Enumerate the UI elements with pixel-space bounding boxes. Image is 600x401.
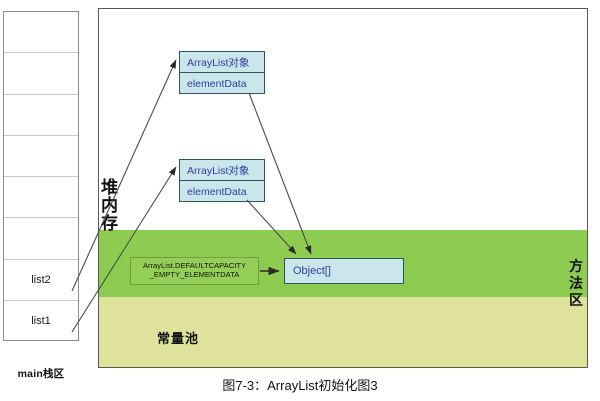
arraylist-object-box-1: ArrayList对象 elementData: [179, 51, 265, 94]
figure-caption: 图7-3：ArrayList初始化图3: [0, 375, 600, 394]
stack-cell-list1: list1: [4, 301, 78, 342]
stack-cell: [4, 177, 78, 218]
heap-label: 堆 内 存: [101, 179, 118, 233]
stack-cell: [4, 12, 78, 53]
stack-cell: [4, 53, 78, 94]
method-area-label: 方 法 区: [569, 259, 583, 310]
constant-pool-label: 常量池: [157, 328, 199, 347]
object-array-box: Object[]: [284, 258, 404, 284]
default-capacity-empty-elementdata-box: ArrayList.DEFAULTCAPACITY _EMPTY_ELEMENT…: [130, 257, 259, 285]
diagram-root: list2 list1 main栈区 常量池 堆 内 存 方 法 区 Array…: [0, 0, 600, 401]
object-array-label: Object[]: [293, 265, 331, 277]
arraylist-elementdata-field: elementData: [180, 181, 264, 202]
stack-cell: [4, 218, 78, 259]
arraylist-object-box-2: ArrayList对象 elementData: [179, 159, 265, 202]
main-stack-frame: list2 list1: [3, 11, 79, 341]
arraylist-elementdata-field: elementData: [180, 73, 264, 94]
heap-label-char: 堆: [101, 179, 118, 196]
arraylist-object-title: ArrayList对象: [180, 52, 264, 73]
method-area-label-char: 方: [569, 259, 583, 273]
heap-label-char: 存: [101, 215, 118, 232]
method-area-label-char: 法: [569, 276, 583, 290]
memory-container: 常量池 堆 内 存 方 法 区 ArrayList对象 elementData …: [98, 8, 588, 368]
arraylist-object-title: ArrayList对象: [180, 160, 264, 181]
method-area-label-char: 区: [569, 293, 583, 307]
stack-cell: [4, 95, 78, 136]
constant-pool-band: 常量池: [99, 297, 587, 368]
stack-cell-list2: list2: [4, 260, 78, 301]
stack-cell: [4, 136, 78, 177]
default-capacity-line-2: _EMPTY_ELEMENTDATA: [150, 271, 240, 280]
heap-label-char: 内: [101, 197, 118, 214]
